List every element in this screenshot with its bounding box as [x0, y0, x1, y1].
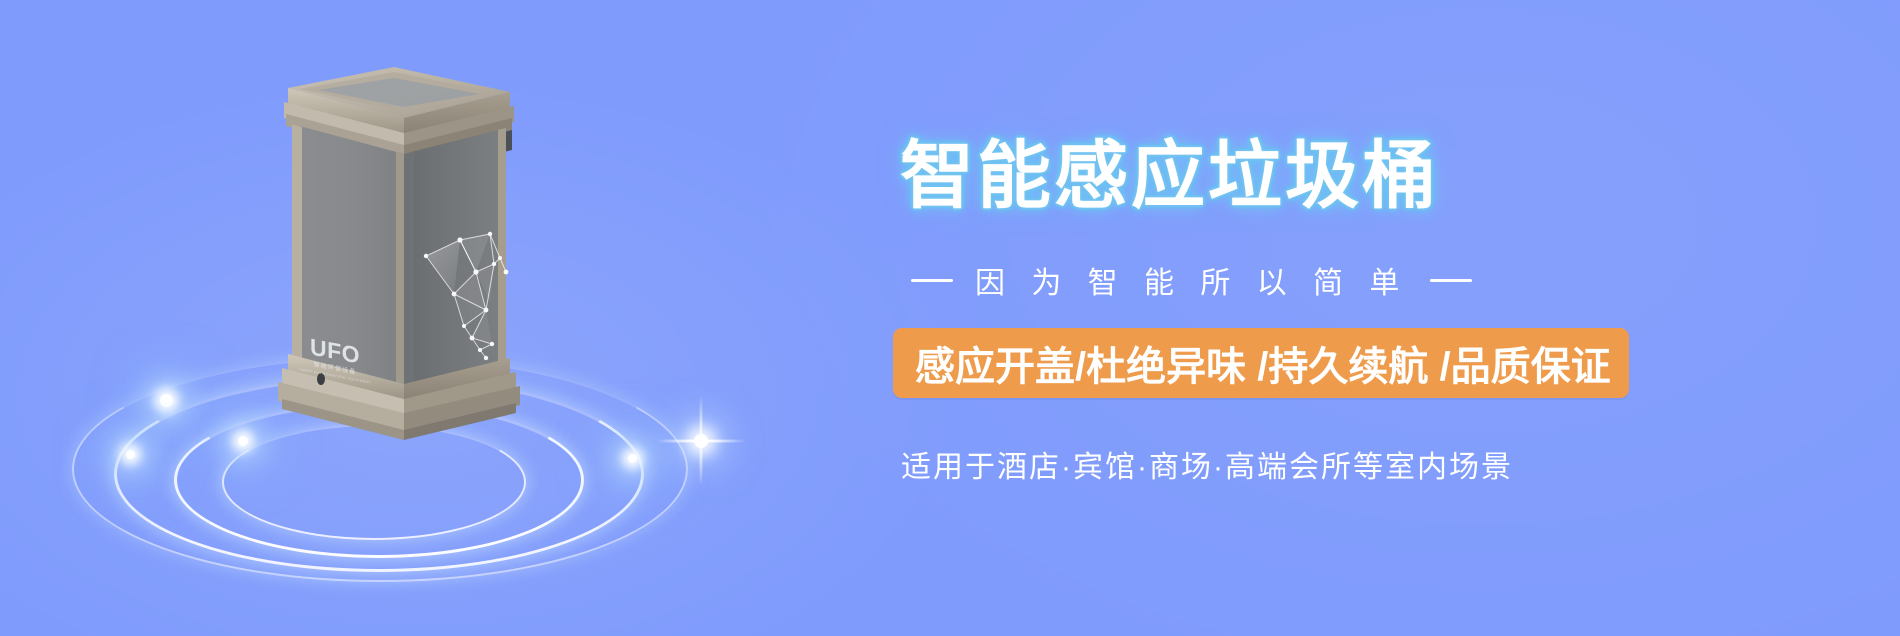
promo-banner: UFO 智能环保设备 SMART ENVIRONMENTAL EQUIPMENT…	[0, 0, 1900, 636]
sparkle-core	[694, 434, 708, 448]
sparkle-star-icon	[656, 396, 746, 486]
glow-dot-icon	[628, 454, 637, 463]
glow-dot-icon	[160, 394, 173, 407]
subline: 因 为 智 能 所 以 简 单	[911, 258, 1472, 302]
feature-bar: 感应开盖/杜绝异味 /持久续航 /品质保证	[893, 328, 1629, 398]
subline-rule-left	[911, 279, 953, 282]
glow-dot-icon	[126, 450, 135, 459]
product-stage: UFO 智能环保设备 SMART ENVIRONMENTAL EQUIPMENT	[0, 0, 840, 636]
copy-block: 智能感应垃圾桶 因 为 智 能 所 以 简 单 感应开盖/杜绝异味 /持久续航 …	[893, 0, 1793, 636]
feature-bar-text: 感应开盖/杜绝异味 /持久续航 /品质保证	[915, 334, 1611, 392]
headline: 智能感应垃圾桶	[900, 116, 1439, 223]
product-image-trash-bin: UFO 智能环保设备 SMART ENVIRONMENTAL EQUIPMENT	[248, 58, 548, 448]
glow-dot-icon	[238, 436, 248, 446]
subline-rule-right	[1430, 279, 1472, 282]
scene-line: 适用于酒店·宾馆·商场·高端会所等室内场景	[901, 442, 1513, 486]
subline-text: 因 为 智 能 所 以 简 单	[975, 258, 1408, 302]
